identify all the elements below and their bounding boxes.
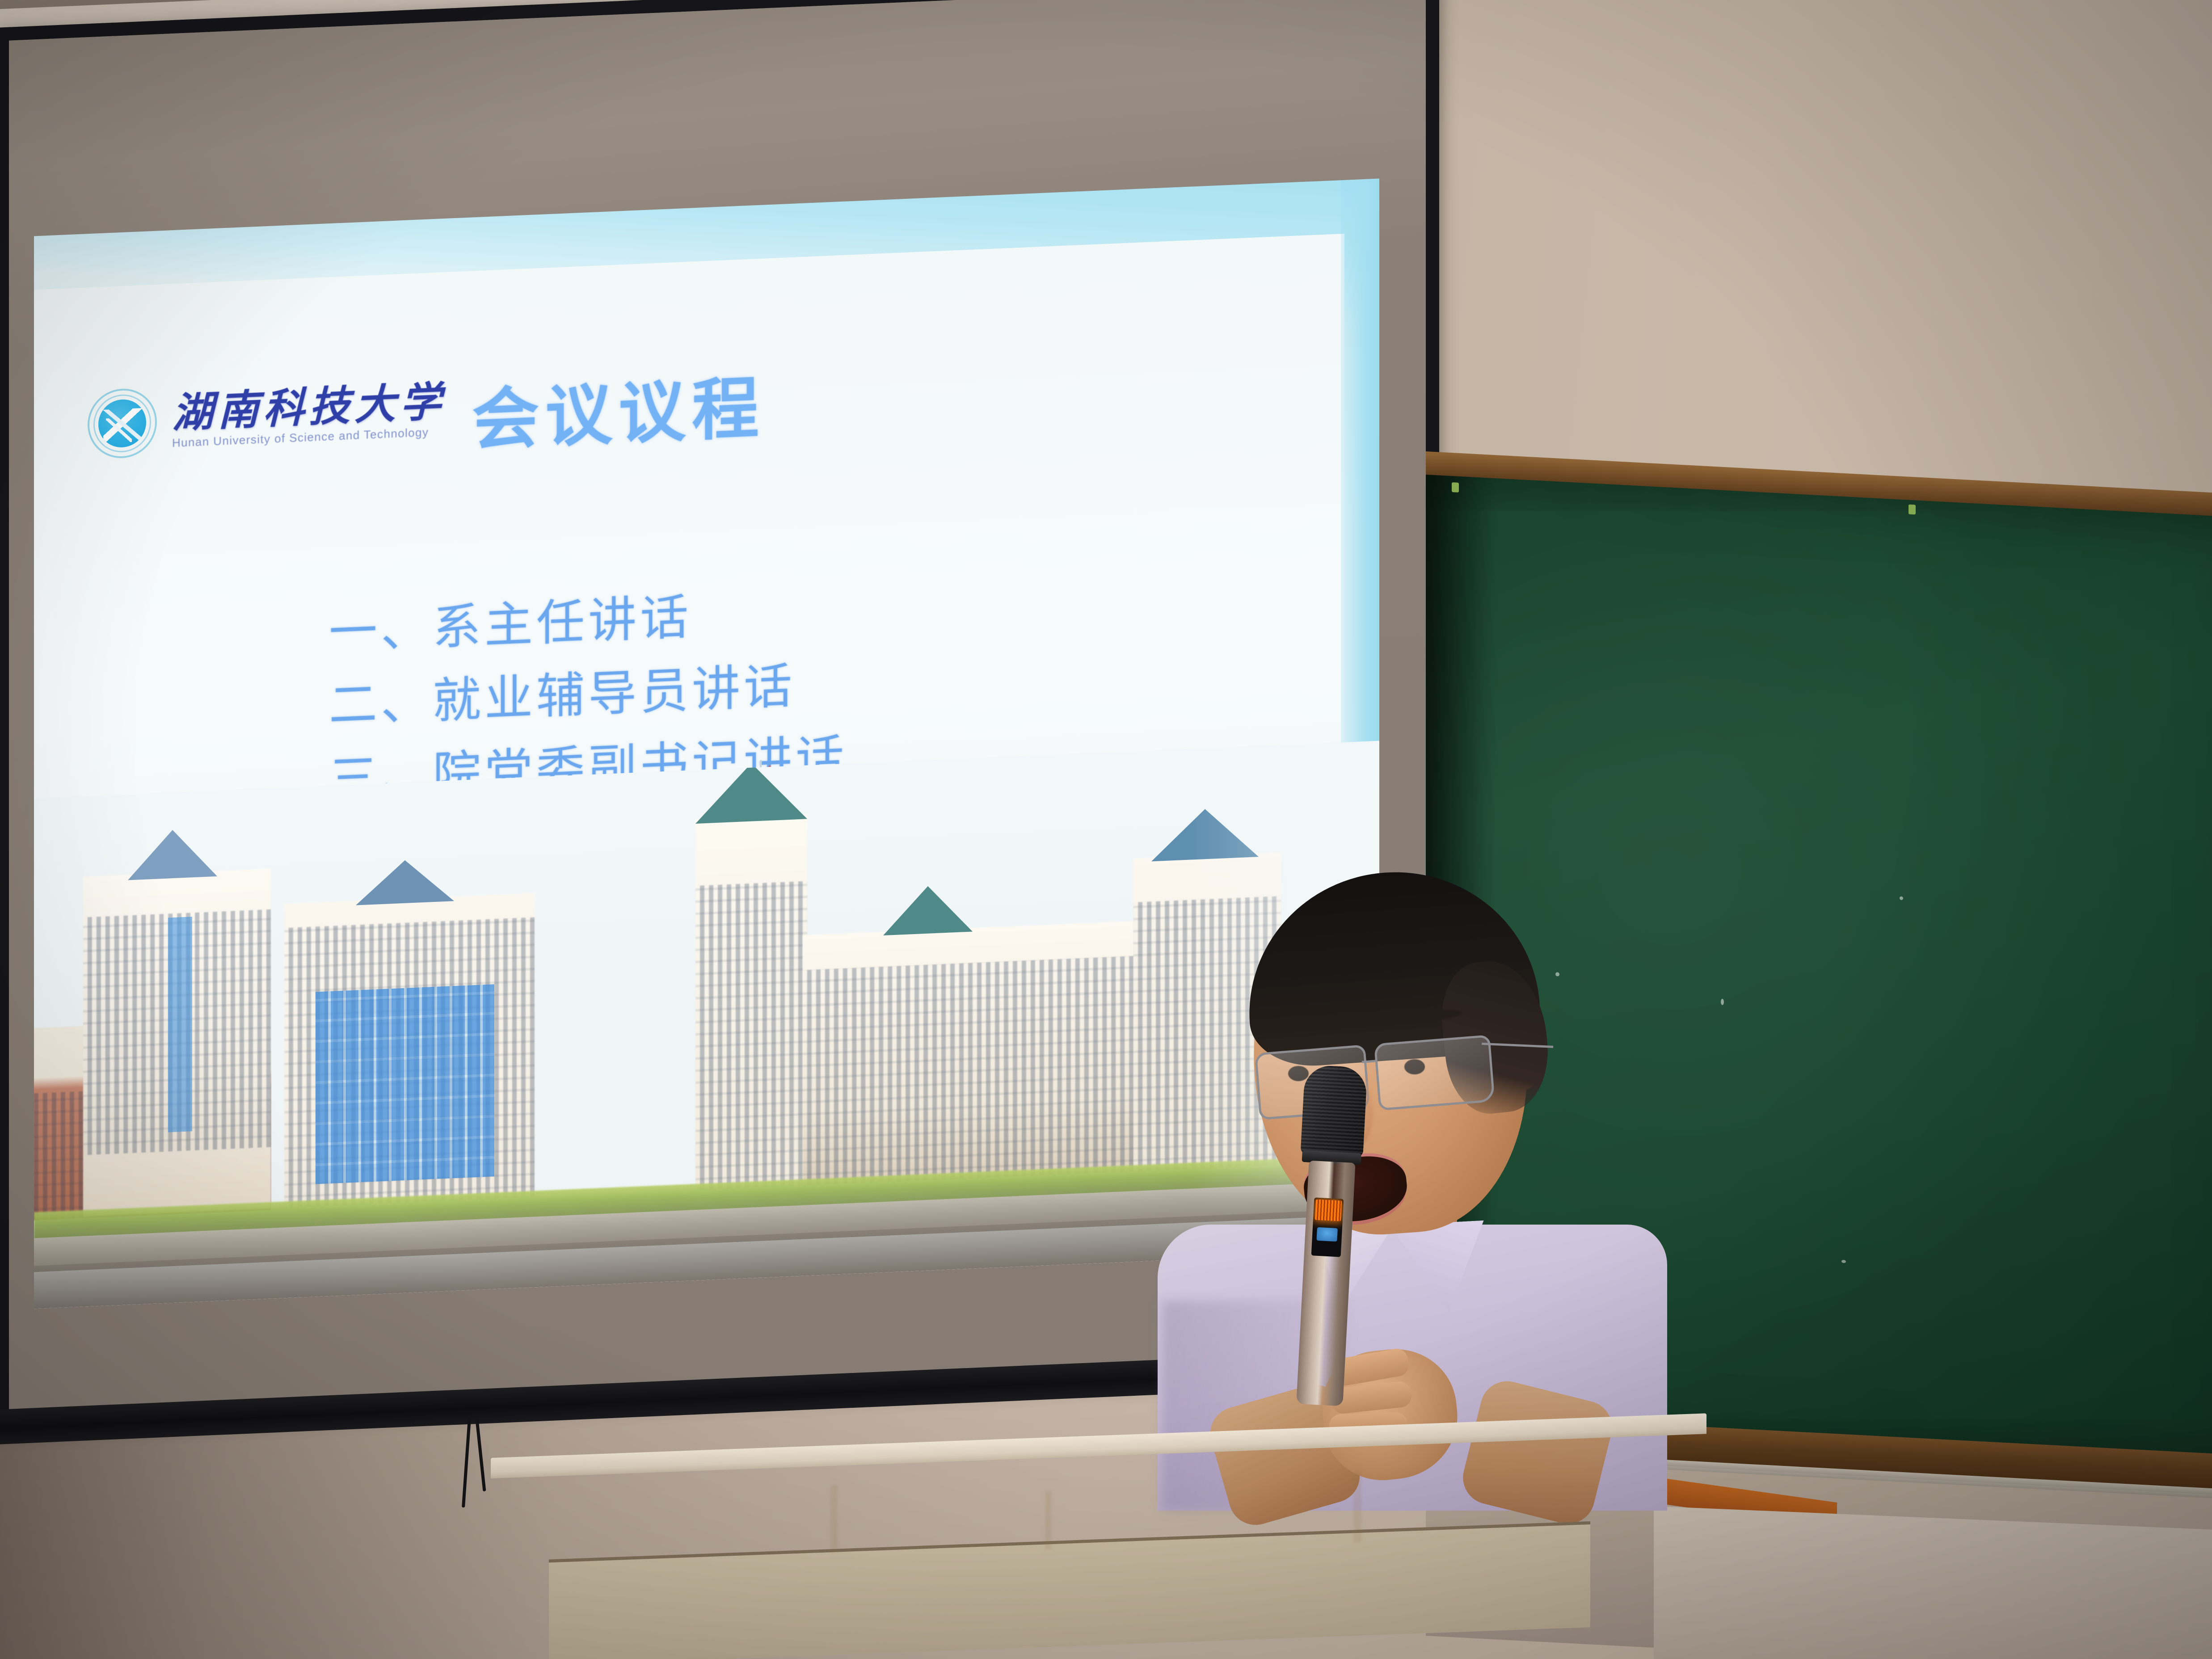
university-name-block: 湖南科技大学 Hunan University of Science and T… — [172, 381, 446, 450]
chalk-mark — [1721, 999, 1724, 1005]
eyeglass-bridge — [1362, 1060, 1376, 1063]
blackboard-clip-right-icon — [1909, 505, 1916, 515]
eyeglass-lens-right — [1374, 1035, 1495, 1111]
campus-roof-teal-main — [695, 761, 807, 824]
campus-glass-curtain — [316, 984, 494, 1184]
university-name-chinese: 湖南科技大学 — [172, 381, 446, 434]
microphone-display — [1311, 1197, 1344, 1257]
agenda-item-2: 二、就业辅导员讲话 — [329, 659, 847, 732]
slide-title: 会议议程 — [472, 375, 765, 454]
university-emblem-icon — [88, 387, 157, 460]
classroom-scene: 湖南科技大学 Hunan University of Science and T… — [0, 0, 2212, 1659]
chalk-mark — [1841, 1260, 1846, 1263]
speaker-person — [1131, 863, 1690, 1502]
campus-roof-right — [883, 884, 973, 935]
podium-stain — [830, 1485, 838, 1552]
campus-blue-stripe-left — [168, 917, 192, 1132]
podium-stain — [1045, 1491, 1051, 1550]
microphone-head-icon — [1301, 1065, 1368, 1157]
chalk-mark — [1900, 897, 1903, 900]
microphone-led-indicator — [1315, 1200, 1342, 1221]
campus-roof-left — [128, 828, 217, 880]
campus-building-right — [803, 921, 1142, 1186]
microphone-blue-indicator — [1316, 1227, 1338, 1242]
lower-right-wall — [1654, 1506, 2212, 1659]
campus-tower-teal — [695, 814, 807, 1190]
campus-roof-center — [356, 858, 454, 905]
microphone-body — [1296, 1161, 1355, 1406]
blackboard-clip-left-icon — [1452, 482, 1459, 493]
podium-stain — [1353, 1471, 1361, 1543]
